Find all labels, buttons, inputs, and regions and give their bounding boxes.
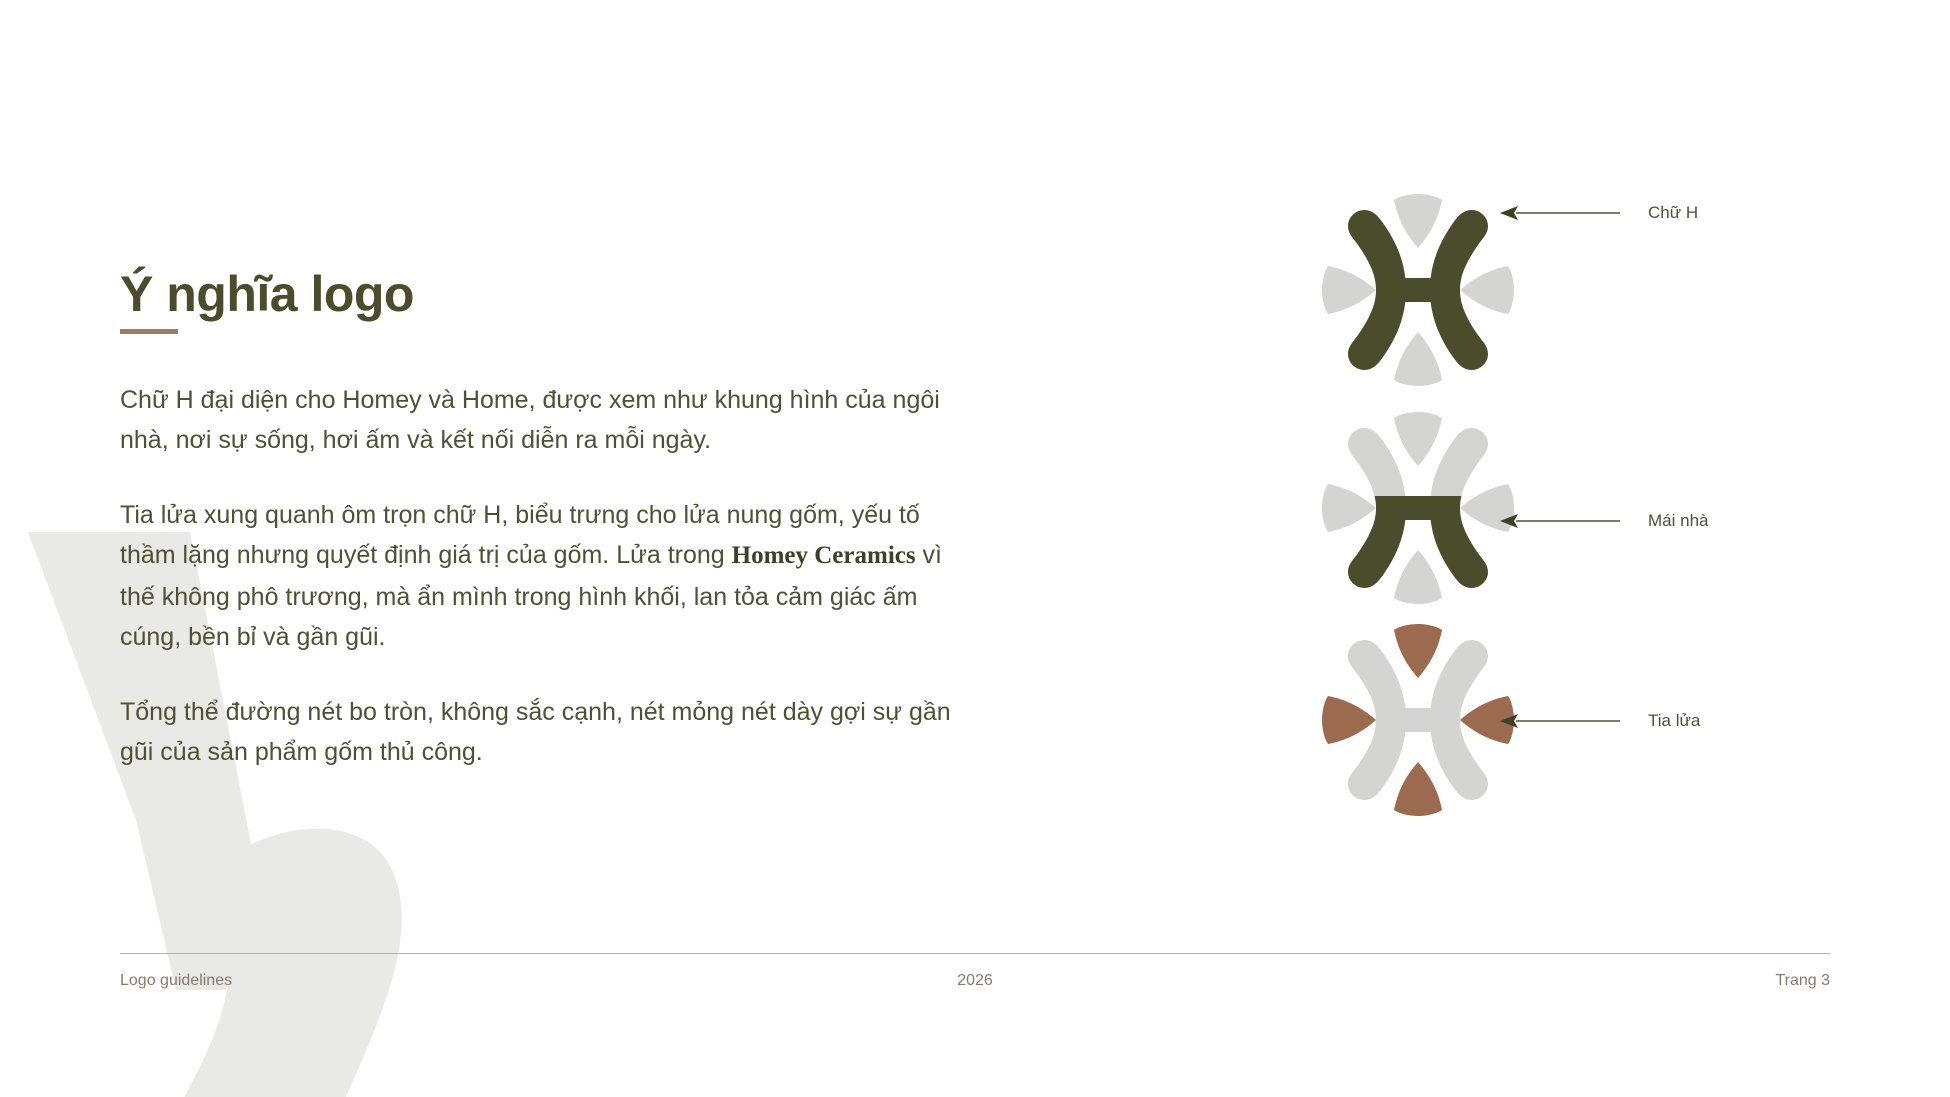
paragraph-2: Tia lửa xung quanh ôm trọn chữ H, biểu t… xyxy=(120,495,960,658)
paragraph-3: Tổng thể đường nét bo tròn, không sắc cạ… xyxy=(120,692,960,773)
logo-mark-row-mai-nha: Mái nhà xyxy=(1318,408,1918,608)
crossbar-shape xyxy=(1388,496,1448,520)
logo-mark-row-chu-h: Chữ H xyxy=(1318,190,1918,390)
arrow-left-icon xyxy=(1498,205,1620,221)
content-column: Ý nghĩa logo Chữ H đại diện cho Homey và… xyxy=(120,268,980,773)
slide-page: Ý nghĩa logo Chữ H đại diện cho Homey và… xyxy=(0,0,1950,1097)
page-title: Ý nghĩa logo xyxy=(120,268,980,321)
logo-marks-panel: Chữ H xyxy=(1318,190,1918,890)
title-underline-accent xyxy=(120,329,178,334)
footer-left-text: Logo guidelines xyxy=(120,972,232,990)
annotation-chu-h: Chữ H xyxy=(1498,202,1698,224)
annotation-label: Mái nhà xyxy=(1648,511,1708,531)
footer-year: 2026 xyxy=(957,972,993,990)
logo-mark-icon xyxy=(1318,190,1518,390)
logo-mark-icon xyxy=(1318,408,1518,608)
footer: Logo guidelines 2026 Trang 3 xyxy=(120,972,1830,990)
annotation-tia-lua: Tia lửa xyxy=(1498,710,1700,732)
logo-mark-icon xyxy=(1318,620,1518,820)
logo-mark-row-tia-lua: Tia lửa xyxy=(1318,620,1918,820)
paragraph-1: Chữ H đại diện cho Homey và Home, được x… xyxy=(120,380,960,461)
arrow-left-icon xyxy=(1498,713,1620,729)
arrow-left-icon xyxy=(1498,513,1620,529)
annotation-mai-nha: Mái nhà xyxy=(1498,510,1708,532)
footer-divider xyxy=(120,953,1830,954)
annotation-label: Chữ H xyxy=(1648,203,1698,223)
brand-name: Homey Ceramics xyxy=(732,542,916,569)
annotation-label: Tia lửa xyxy=(1648,711,1700,731)
footer-page-number: Trang 3 xyxy=(1775,972,1830,990)
